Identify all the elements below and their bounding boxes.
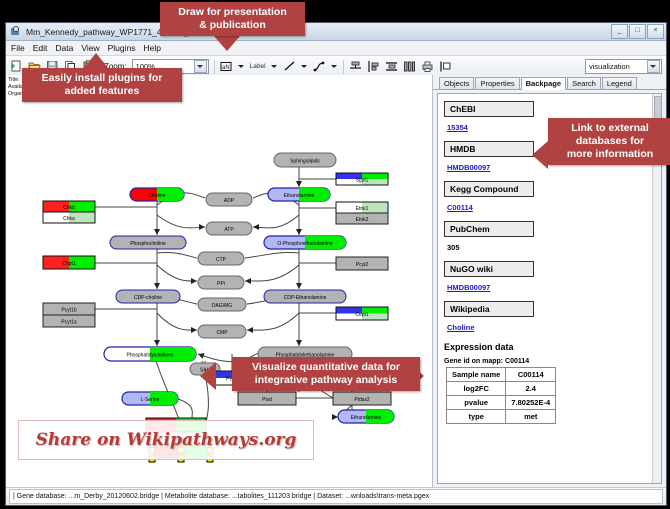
menu-item-view[interactable]: View xyxy=(81,43,99,53)
node-label: O-Phosphoethanolamine xyxy=(277,241,333,247)
gene-node-pcyt1b[interactable]: Pcyt1b xyxy=(43,303,95,315)
db-value-pubchem: 305 xyxy=(447,243,460,252)
metabolite-node-cmp[interactable]: CMP xyxy=(198,325,246,338)
visualization-value: visualization xyxy=(589,62,630,71)
chevron-down-icon-viz[interactable] xyxy=(647,60,660,73)
tab-objects[interactable]: Objects xyxy=(439,77,474,89)
db-header-kegg: Kegg Compound xyxy=(444,181,534,197)
node-label: Phosphatidylcholines xyxy=(127,353,174,359)
metabolite-node-ppi[interactable]: PPi xyxy=(198,276,244,289)
node-label: CDP-Ethanolamine xyxy=(284,295,327,301)
menu-item-help[interactable]: Help xyxy=(144,43,161,53)
callout-draw-text: Draw for presentation & publication xyxy=(178,6,287,31)
gene-node-chka[interactable]: Chka xyxy=(43,212,95,223)
interaction-dropdown-icon[interactable] xyxy=(331,60,338,73)
node-label: CMP xyxy=(216,330,228,336)
callout-visualize: Visualize quantitative data for integrat… xyxy=(232,357,420,391)
datanode-dropdown-icon[interactable] xyxy=(238,60,245,73)
metabolite-node-ctp[interactable]: CTP xyxy=(198,252,244,265)
metabolite-node-adp[interactable]: ADP xyxy=(206,193,252,206)
gene-node-chkb[interactable]: Chkb xyxy=(43,201,95,212)
db-header-hmdb: HMDB xyxy=(444,141,534,157)
cell-val-log2fc: 2.4 xyxy=(506,382,556,396)
callout-link-arrow-icon xyxy=(532,141,548,169)
node-label: PPi xyxy=(217,281,225,287)
window-controls: _ □ × xyxy=(611,24,666,39)
node-label: Ethanolamine xyxy=(284,193,315,199)
node-label: CTP xyxy=(216,257,227,263)
tab-properties[interactable]: Properties xyxy=(475,77,519,89)
align-left-icon[interactable] xyxy=(367,60,380,73)
metabolite-node-atp[interactable]: ATP xyxy=(206,222,252,235)
callout-link-text: Link to external databases for more info… xyxy=(567,122,653,160)
gene-node-sgpl1[interactable]: Sgpl1 xyxy=(336,173,388,185)
node-label: ADP xyxy=(224,198,235,204)
table-row: Sample name C00114 xyxy=(447,368,556,382)
cell-key-type: type xyxy=(447,410,506,424)
gene-label: Pcyt1a xyxy=(61,319,77,325)
menu-item-file[interactable]: File xyxy=(11,43,25,53)
gene-label: Etnk2 xyxy=(356,217,369,223)
app-logo-icon xyxy=(10,26,21,37)
metabolite-node-ethanolamine-right[interactable]: Ethanolamine xyxy=(338,410,394,423)
table-row: pvalue 7.80252E-4 xyxy=(447,396,556,410)
tab-backpage[interactable]: Backpage xyxy=(521,77,566,90)
db-header-nugo: NuGO wiki xyxy=(444,261,534,277)
gene-node-pcyt1a[interactable]: Pcyt1a xyxy=(43,315,95,327)
metabolite-node-choline-top[interactable]: Choline xyxy=(130,188,184,201)
group-icon[interactable] xyxy=(385,60,398,73)
stack-icon[interactable] xyxy=(403,60,416,73)
metabolite-node-cdp-choline[interactable]: CDP-choline xyxy=(116,290,180,303)
callout-link: Link to external databases for more info… xyxy=(548,118,670,165)
maximize-button[interactable]: □ xyxy=(629,24,646,39)
gene-node-pisd[interactable]: Pisd xyxy=(238,392,296,405)
toolbar-separator xyxy=(214,60,215,74)
callout-plugins: Easily install plugins for added feature… xyxy=(22,68,182,102)
align-center-icon[interactable] xyxy=(349,60,362,73)
callout-draw: Draw for presentation & publication xyxy=(160,2,305,36)
gene-label: Pcyt2 xyxy=(356,262,369,268)
side-panel-tabs: Objects Properties Backpage Search Legen… xyxy=(433,75,666,90)
table-row: log2FC 2.4 xyxy=(447,382,556,396)
metabolite-node-o-phosphoethanolamine[interactable]: O-Phosphoethanolamine xyxy=(264,236,346,249)
callout-share: Share on Wikipathways.org xyxy=(18,420,314,460)
gene-node-cept1[interactable]: Cept1 xyxy=(336,307,388,320)
toolbar-separator-2 xyxy=(343,60,344,74)
gene-node-ptdss2[interactable]: Ptdss2 xyxy=(333,392,391,405)
datanode-icon[interactable]: aN xyxy=(220,60,233,73)
metabolite-node-l-serine-left[interactable]: L-Serine xyxy=(122,392,178,405)
metabolite-node-sphingolipids[interactable]: Sphingolipids xyxy=(274,153,336,167)
callout-visualize-arrow-left-icon xyxy=(200,362,216,390)
metabolite-node-cdp-ethanolamine[interactable]: CDP-Ethanolamine xyxy=(264,290,346,303)
callout-share-text: Share on Wikipathways.org xyxy=(36,430,297,450)
gene-label: Etnk1 xyxy=(356,206,369,212)
label-tool-label[interactable]: Label xyxy=(250,63,266,70)
label-dropdown-icon[interactable] xyxy=(271,60,278,73)
metabolite-node-ethanolamine-top[interactable]: Ethanolamine xyxy=(268,188,330,201)
callout-visualize-text: Visualize quantitative data for integrat… xyxy=(252,361,400,386)
db-header-chebi: ChEBI xyxy=(444,101,534,117)
db-header-pubchem: PubChem xyxy=(444,221,534,237)
order-icon[interactable] xyxy=(439,60,452,73)
tab-legend[interactable]: Legend xyxy=(602,77,637,89)
db-header-wikipedia: Wikipedia xyxy=(444,301,534,317)
chevron-down-icon[interactable] xyxy=(194,60,207,73)
screenshot-root: Mm_Kennedy_pathway_WP1771_45176.gpml _ □… xyxy=(0,0,670,509)
interaction-icon[interactable] xyxy=(313,60,326,73)
visualization-combobox[interactable]: visualization xyxy=(585,59,662,74)
menu-item-data[interactable]: Data xyxy=(55,43,73,53)
node-label: DAG/MG xyxy=(212,303,232,309)
close-button[interactable]: × xyxy=(647,24,664,39)
db-link-wikipedia[interactable]: Choline xyxy=(447,323,475,332)
gene-node-etnk2[interactable]: Etnk2 xyxy=(336,213,388,224)
node-label: L-Serine xyxy=(141,397,160,403)
table-row: type met xyxy=(447,410,556,424)
minimize-button[interactable]: _ xyxy=(611,24,628,39)
node-label: Choline xyxy=(149,193,166,199)
metabolite-node-phosphocholine[interactable]: Phosphocholine xyxy=(110,236,186,249)
cell-key-sample-name: Sample name xyxy=(447,368,506,382)
print-icon[interactable] xyxy=(421,60,434,73)
callout-draw-arrow-icon xyxy=(213,35,241,51)
gene-label: Chkb xyxy=(63,205,75,211)
cell-val-type: met xyxy=(506,410,556,424)
gene-label: Pcyt1b xyxy=(61,307,77,313)
gene-id-label: Gene id on mapp: C00114 xyxy=(444,358,657,365)
gene-label: Ptdss2 xyxy=(354,397,370,403)
metabolite-node-phosphatidylcholines[interactable]: Phosphatidylcholines xyxy=(104,347,196,361)
node-label: Phosphocholine xyxy=(130,241,166,247)
line-icon[interactable] xyxy=(283,60,296,73)
callout-plugins-text: Easily install plugins for added feature… xyxy=(42,72,163,97)
menu-item-edit[interactable]: Edit xyxy=(33,43,48,53)
svg-text:aN: aN xyxy=(222,65,230,71)
gene-label: Chka xyxy=(63,216,75,222)
line-dropdown-icon[interactable] xyxy=(301,60,308,73)
cell-val-sample-name: C00114 xyxy=(506,368,556,382)
node-label: Ethanolamine xyxy=(351,415,382,421)
node-label: ATP xyxy=(224,227,234,233)
cell-key-log2fc: log2FC xyxy=(447,382,506,396)
metabolite-node-dag-mg[interactable]: DAG/MG xyxy=(198,298,246,311)
callout-plugins-arrow-icon xyxy=(83,53,109,69)
db-link-nugo[interactable]: HMDB00097 xyxy=(447,283,490,292)
expression-data-heading: Expression data xyxy=(444,342,657,352)
node-label: CDP-choline xyxy=(134,295,162,301)
db-link-kegg[interactable]: C00114 xyxy=(447,203,473,212)
db-link-hmdb[interactable]: HMDB00097 xyxy=(447,163,490,172)
cell-val-pvalue: 7.80252E-4 xyxy=(506,396,556,410)
gene-node-pcyt2[interactable]: Pcyt2 xyxy=(336,257,388,270)
gene-label: Cept1 xyxy=(355,312,369,318)
node-label: Sphingolipids xyxy=(290,159,320,165)
gene-label: Chpt1 xyxy=(62,261,76,267)
gene-node-etnk1[interactable]: Etnk1 xyxy=(336,202,388,213)
gene-label: Pisd xyxy=(262,397,272,403)
status-bar: | Gene database: ...m_Derby_20120602.bri… xyxy=(6,487,666,505)
db-link-chebi[interactable]: 15354 xyxy=(447,123,468,132)
cell-key-pvalue: pvalue xyxy=(447,396,506,410)
status-bar-text: | Gene database: ...m_Derby_20120602.bri… xyxy=(9,489,663,504)
gene-label: Sgpl1 xyxy=(356,177,369,183)
title-bar: Mm_Kennedy_pathway_WP1771_45176.gpml _ □… xyxy=(6,23,666,41)
gene-node-chpt1[interactable]: Chpt1 xyxy=(43,256,95,269)
expression-table: Sample name C00114 log2FC 2.4 pvalue 7.8… xyxy=(446,367,556,424)
menu-item-plugins[interactable]: Plugins xyxy=(108,43,136,53)
tab-search[interactable]: Search xyxy=(567,77,601,89)
